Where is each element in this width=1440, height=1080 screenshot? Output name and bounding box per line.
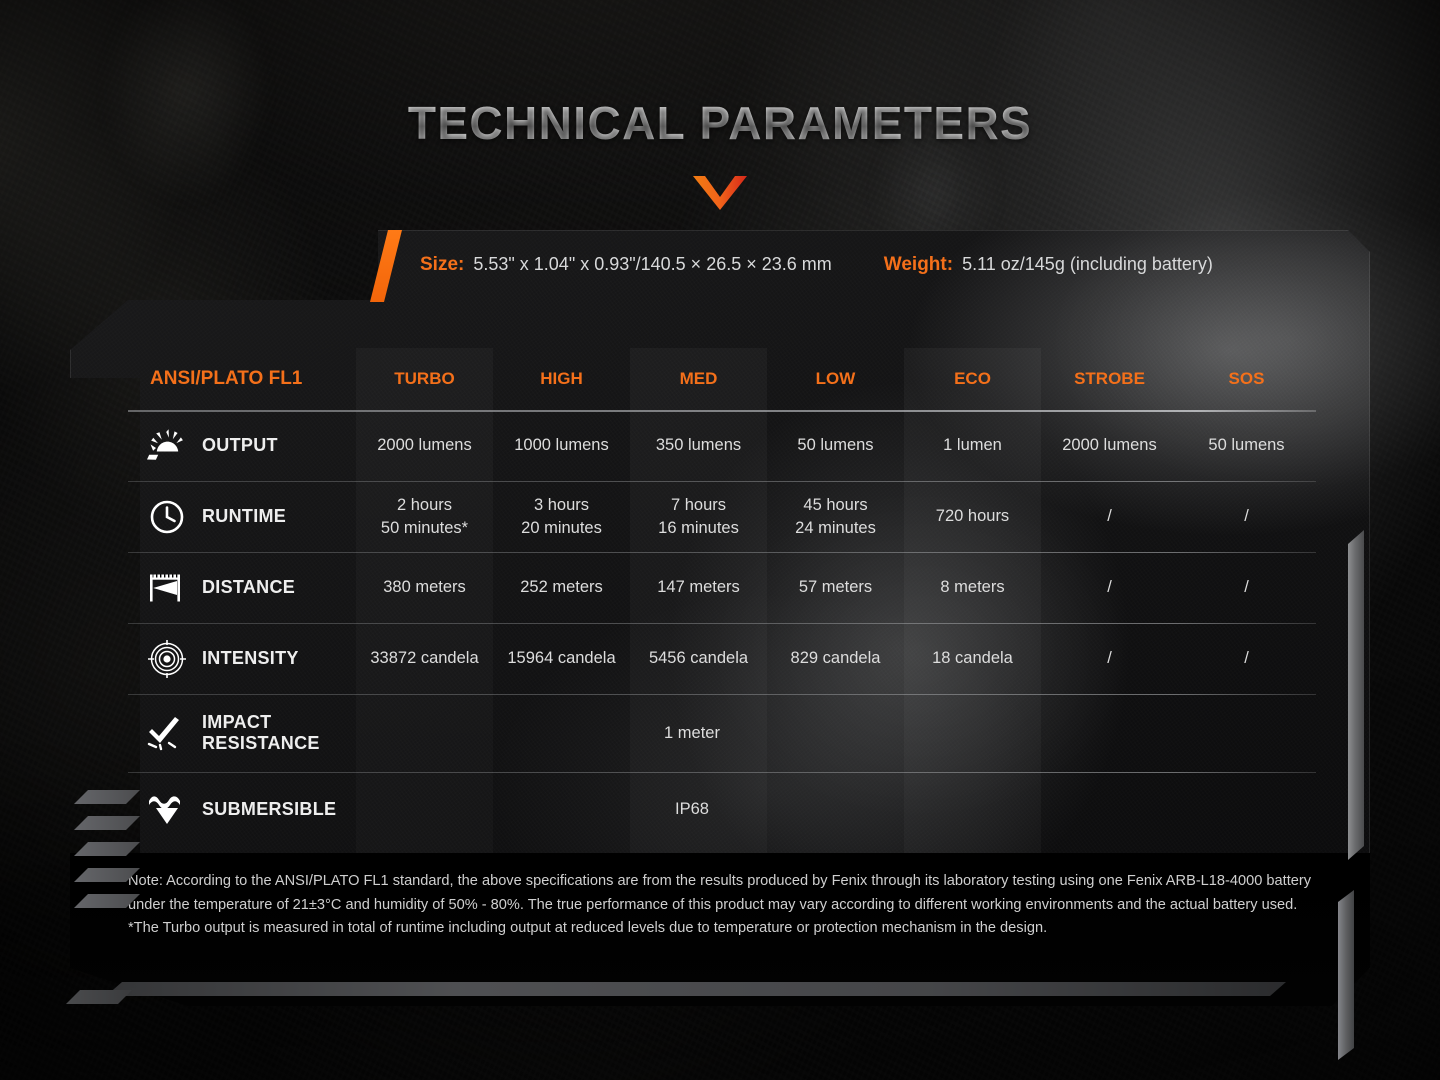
cell-output-strobe: 2000 lumens [1041, 410, 1178, 481]
cell-output-turbo: 2000 lumens [356, 410, 493, 481]
cell-runtime-turbo: 2 hours50 minutes* [356, 481, 493, 552]
stripe-3 [74, 842, 140, 856]
bottom-left-accent [66, 990, 132, 1004]
cell-output-sos: 50 lumens [1178, 410, 1315, 481]
cell-distance-eco: 8 meters [904, 552, 1041, 623]
table-header-row: ANSI/PLATO FL1 TURBO HIGH MED LOW ECO ST… [128, 348, 1316, 410]
row-label-submersible: SUBMERSIBLE [128, 772, 356, 846]
clock-icon [146, 497, 188, 537]
stripe-1 [74, 790, 140, 804]
column-header-sos: SOS [1178, 348, 1315, 410]
table-row: DISTANCE 380 meters 252 meters 147 meter… [128, 552, 1316, 623]
note-line-1: Note: According to the ANSI/PLATO FL1 st… [128, 870, 1320, 917]
cell-runtime-sos: / [1178, 481, 1315, 552]
cell-intensity-strobe: / [1041, 623, 1178, 694]
table-row: SUBMERSIBLE IP68 [128, 772, 1316, 846]
note-section: Note: According to the ANSI/PLATO FL1 st… [128, 870, 1320, 941]
stripe-4 [74, 868, 140, 882]
beam-ruler-icon [146, 568, 188, 608]
impact-check-icon [146, 713, 188, 753]
row-label-text: OUTPUT [202, 435, 278, 456]
row-label-impact-resistance: IMPACT RESISTANCE [128, 694, 356, 772]
impact-value-text: 1 meter [664, 724, 720, 743]
size-value: 5.53" x 1.04" x 0.93"/140.5 × 26.5 × 23.… [473, 254, 831, 275]
column-header-med: MED [630, 348, 767, 410]
cell-output-eco: 1 lumen [904, 410, 1041, 481]
impact-label-line1: IMPACT [202, 712, 271, 732]
cell-distance-turbo: 380 meters [356, 552, 493, 623]
specifications-table: ANSI/PLATO FL1 TURBO HIGH MED LOW ECO ST… [128, 348, 1316, 846]
row-label-text: INTENSITY [202, 648, 299, 669]
table-row: OUTPUT 2000 lumens 1000 lumens 350 lumen… [128, 410, 1316, 481]
cell-output-med: 350 lumens [630, 410, 767, 481]
table-row: INTENSITY 33872 candela 15964 candela 54… [128, 623, 1316, 694]
column-header-strobe: STROBE [1041, 348, 1178, 410]
cell-distance-med: 147 meters [630, 552, 767, 623]
column-header-low: LOW [767, 348, 904, 410]
row-label-text: SUBMERSIBLE [202, 799, 336, 820]
row-label-text: RUNTIME [202, 506, 286, 527]
bottom-accent-bar [106, 982, 1286, 996]
header-standard: ANSI/PLATO FL1 [128, 348, 356, 410]
table-row: IMPACT RESISTANCE 1 meter [128, 694, 1316, 772]
sunburst-icon [146, 426, 188, 466]
table-row: RUNTIME 2 hours50 minutes* 3 hours20 min… [128, 481, 1316, 552]
chevron-down-icon [693, 176, 747, 210]
weight-spec: Weight: 5.11 oz/145g (including battery) [884, 254, 1213, 276]
right-accent-bar-short [1338, 890, 1354, 1060]
cell-intensity-eco: 18 candela [904, 623, 1041, 694]
page-title: TECHNICAL PARAMETERS [408, 96, 1032, 150]
dimensions-band: Size: 5.53" x 1.04" x 0.93"/140.5 × 26.5… [70, 230, 1370, 300]
corner-stripes-decoration [74, 790, 144, 990]
cell-runtime-low: 45 hours24 minutes [767, 481, 904, 552]
note-line-2: *The Turbo output is measured in total o… [128, 917, 1320, 941]
spec-panel: Size: 5.53" x 1.04" x 0.93"/140.5 × 26.5… [70, 230, 1370, 1010]
cell-submersible-value: IP68 [356, 772, 1316, 846]
column-header-high: HIGH [493, 348, 630, 410]
cell-impact-resistance-value: 1 meter [356, 694, 1316, 772]
target-rings-icon [146, 639, 188, 679]
water-drop-icon [146, 789, 188, 829]
stripe-5 [74, 894, 140, 908]
page-header: TECHNICAL PARAMETERS [0, 96, 1440, 210]
submersible-value-text: IP68 [675, 800, 709, 819]
cell-distance-strobe: / [1041, 552, 1178, 623]
cell-runtime-eco: 720 hours [904, 481, 1041, 552]
cell-intensity-high: 15964 candela [493, 623, 630, 694]
cell-output-low: 50 lumens [767, 410, 904, 481]
cell-intensity-med: 5456 candela [630, 623, 767, 694]
cell-intensity-sos: / [1178, 623, 1315, 694]
weight-label: Weight: [884, 254, 953, 276]
cell-distance-sos: / [1178, 552, 1315, 623]
cell-runtime-strobe: / [1041, 481, 1178, 552]
cell-output-high: 1000 lumens [493, 410, 630, 481]
weight-value: 5.11 oz/145g (including battery) [962, 254, 1213, 275]
row-label-runtime: RUNTIME [128, 481, 356, 552]
cell-runtime-high: 3 hours20 minutes [493, 481, 630, 552]
row-label-distance: DISTANCE [128, 552, 356, 623]
cell-runtime-med: 7 hours16 minutes [630, 481, 767, 552]
size-spec: Size: 5.53" x 1.04" x 0.93"/140.5 × 26.5… [420, 254, 832, 276]
right-accent-bar-long [1348, 530, 1364, 860]
cell-distance-high: 252 meters [493, 552, 630, 623]
column-header-turbo: TURBO [356, 348, 493, 410]
row-label-text: DISTANCE [202, 577, 295, 598]
cell-distance-low: 57 meters [767, 552, 904, 623]
row-label-output: OUTPUT [128, 410, 356, 481]
column-header-eco: ECO [904, 348, 1041, 410]
cell-intensity-turbo: 33872 candela [356, 623, 493, 694]
size-label: Size: [420, 254, 464, 276]
row-label-text: IMPACT RESISTANCE [202, 712, 320, 754]
stripe-2 [74, 816, 140, 830]
cell-intensity-low: 829 candela [767, 623, 904, 694]
impact-label-line2: RESISTANCE [202, 733, 320, 753]
row-label-intensity: INTENSITY [128, 623, 356, 694]
